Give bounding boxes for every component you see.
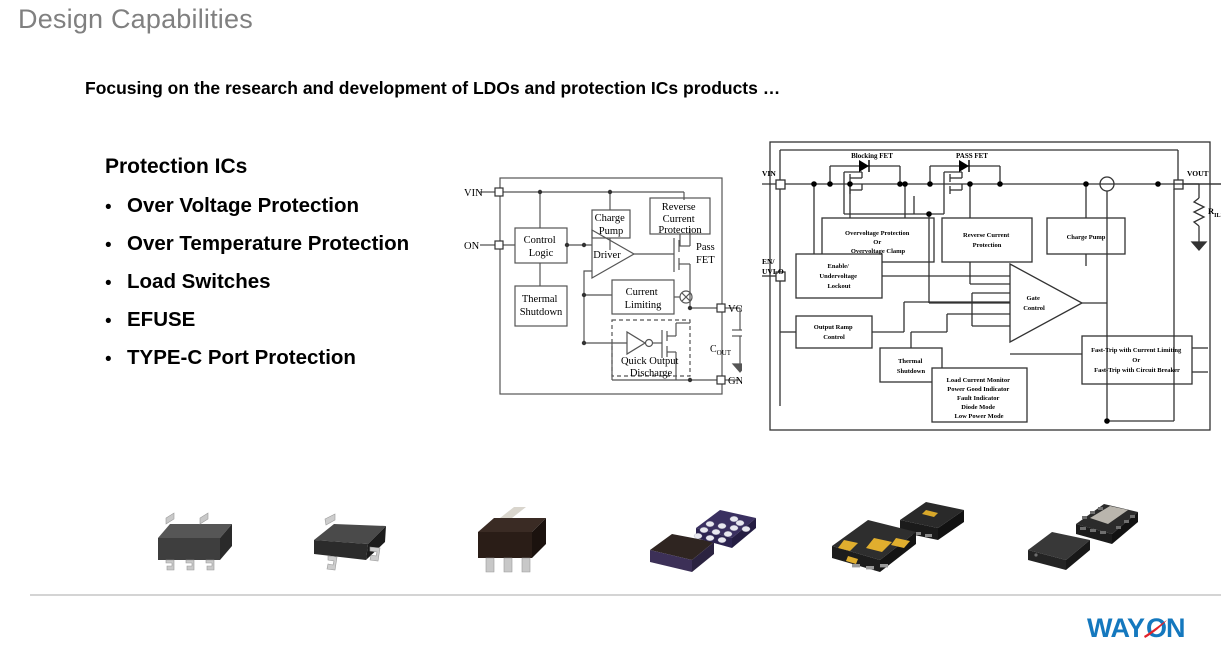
- label-reverse-current-protection: Reverse Current Protection: [658, 202, 702, 236]
- slide-subtitle: Focusing on the research and development…: [85, 78, 780, 99]
- bullet-label: Load Switches: [127, 271, 271, 293]
- sot23-3-package: [298, 506, 408, 584]
- wayon-logo: WAY O N: [1087, 612, 1207, 646]
- ldo-block-diagram: Control Logic Thermal Shutdown Charge Pu…: [462, 168, 742, 408]
- bullet-list: • Over Voltage Protection • Over Tempera…: [105, 195, 435, 369]
- list-item: • Load Switches: [105, 271, 435, 293]
- label-cout: COUT: [710, 344, 732, 357]
- bullet-marker-icon: •: [105, 309, 127, 331]
- pin-label-gnd: GNI: [728, 376, 742, 387]
- bullet-marker-icon: •: [105, 233, 127, 255]
- bullet-label: TYPE-C Port Protection: [127, 347, 356, 369]
- dfn-package: [830, 494, 970, 584]
- label-pass-fet: PASS FET: [956, 152, 988, 160]
- list-item: • EFUSE: [105, 309, 435, 331]
- protection-ics-list: Protection ICs • Over Voltage Protection…: [105, 155, 435, 385]
- label-current-limiting: Current Limiting: [625, 287, 663, 311]
- list-heading: Protection ICs: [105, 155, 435, 179]
- footer-divider: [30, 594, 1221, 596]
- logo-text-way: WAY: [1087, 613, 1145, 643]
- label-charge-pump: Charge Pump: [595, 213, 628, 237]
- bullet-label: Over Temperature Protection: [127, 233, 409, 255]
- bullet-label: EFUSE: [127, 309, 195, 331]
- package-gallery: [0, 492, 1221, 592]
- label-quick-output-discharge: Quick Output Discharge: [621, 356, 681, 379]
- label-driver: Driver: [593, 250, 621, 261]
- label-pass-fet: Pass FET: [696, 242, 717, 266]
- label-control-logic: Control Logic: [524, 235, 559, 259]
- sot89-package: [462, 502, 562, 582]
- sot23-5-package: [140, 502, 250, 582]
- list-item: • TYPE-C Port Protection: [105, 347, 435, 369]
- pin-label-vin: VIN: [464, 188, 483, 199]
- pin-label-vin: VIN: [762, 169, 776, 178]
- label-blocking-fet: Blocking FET: [851, 152, 893, 160]
- list-item: • Over Temperature Protection: [105, 233, 435, 255]
- bullet-marker-icon: •: [105, 271, 127, 293]
- page-title: Design Capabilities: [18, 4, 253, 35]
- wlcsp-package: [640, 498, 760, 583]
- label-charge-pump: Charge Pump: [1067, 234, 1106, 241]
- bullet-marker-icon: •: [105, 195, 127, 217]
- label-thermal-shutdown: Thermal Shutdown: [520, 294, 563, 318]
- efuse-block-diagram: RILIM Overvoltage Protection Or Overvolt…: [762, 136, 1221, 436]
- pin-label-vout: VOUT: [1187, 169, 1209, 178]
- bullet-marker-icon: •: [105, 347, 127, 369]
- bullet-label: Over Voltage Protection: [127, 195, 359, 217]
- logo-text-n: N: [1166, 613, 1186, 643]
- pin-label-on: ON: [464, 241, 480, 252]
- qfn-package: [1020, 500, 1140, 585]
- list-item: • Over Voltage Protection: [105, 195, 435, 217]
